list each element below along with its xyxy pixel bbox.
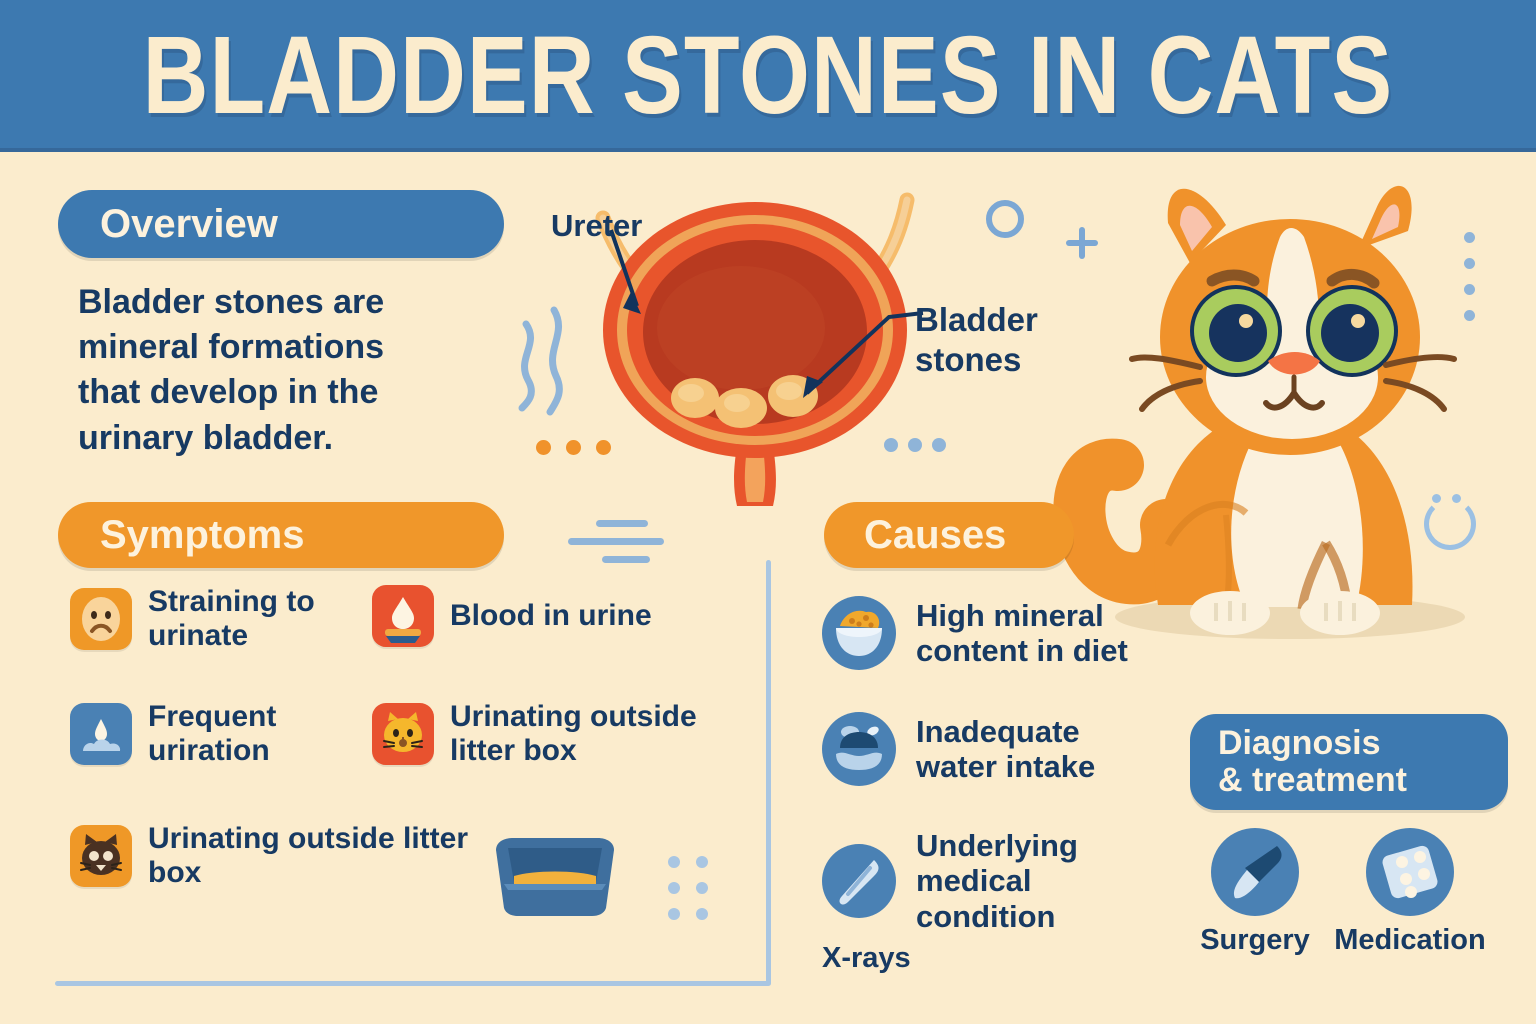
dash-decoration	[602, 556, 650, 563]
symptom-item: Urinating outside litter box	[70, 822, 470, 890]
dot-decoration	[884, 438, 898, 452]
xray-icon	[822, 844, 896, 918]
dot-decoration	[696, 856, 708, 868]
sad-face-icon	[70, 588, 132, 650]
dot-decoration	[596, 440, 611, 455]
dot-decoration	[668, 908, 680, 920]
divider-horizontal	[55, 981, 771, 986]
diagnosis-pill-label-line1: Diagnosis	[1218, 725, 1380, 762]
dark-cat-face-icon	[70, 825, 132, 887]
symptom-item: Urinating outside litter box	[372, 700, 752, 768]
symptom-item: Frequent uriration	[70, 700, 360, 768]
header-banner: BLADDER STONES IN CATS	[0, 0, 1536, 152]
symptom-item: Blood in urine	[372, 585, 732, 647]
section-pill-overview: Overview	[58, 190, 504, 258]
causes-pill-label: Causes	[864, 513, 1006, 558]
dot-decoration	[1432, 494, 1441, 503]
dot-decoration	[908, 438, 922, 452]
symptoms-pill-label: Symptoms	[100, 513, 305, 558]
water-bowl-icon	[822, 712, 896, 786]
symptom-label: Blood in urine	[450, 599, 652, 633]
symptom-label: Urinating outside litter box	[148, 822, 470, 890]
cause-label: Inadequate water intake	[916, 714, 1152, 785]
treatment-label: Surgery	[1198, 924, 1312, 957]
ring-decoration	[986, 200, 1024, 238]
label-ureter: Ureter	[551, 208, 642, 244]
dot-decoration	[696, 882, 708, 894]
water-drop-icon	[70, 703, 132, 765]
pill-blister-icon	[1366, 828, 1454, 916]
squiggle-decoration	[512, 302, 572, 432]
symptom-label: Frequent uriration	[148, 700, 360, 768]
section-pill-diagnosis: Diagnosis & treatment	[1190, 714, 1508, 810]
overview-body-text: Bladder stones are mineral formations th…	[78, 280, 448, 461]
section-pill-symptoms: Symptoms	[58, 502, 504, 568]
arc-decoration	[1424, 498, 1476, 550]
dot-decoration	[668, 882, 680, 894]
infographic-canvas: BLADDER STONES IN CATS Overview Bladder …	[0, 0, 1536, 1024]
dot-decoration	[1464, 258, 1475, 269]
cat-face-icon	[372, 703, 434, 765]
cause-label: High mineral content in diet	[916, 598, 1202, 669]
xray-label: X-rays	[822, 942, 911, 975]
dot-decoration	[932, 438, 946, 452]
treatment-item: Surgery	[1198, 828, 1312, 957]
blood-drop-icon	[372, 585, 434, 647]
symptom-item: Straining to urinate	[70, 585, 360, 653]
symptom-label: Urinating outside litter box	[450, 700, 752, 768]
dot-decoration	[1464, 232, 1475, 243]
dot-decoration	[668, 856, 680, 868]
dash-decoration	[596, 520, 648, 527]
dot-decoration	[1452, 494, 1461, 503]
divider-vertical	[766, 560, 771, 985]
dot-decoration	[566, 440, 581, 455]
dot-decoration	[1464, 284, 1475, 295]
treatment-item: Medication	[1330, 828, 1490, 957]
dot-decoration	[536, 440, 551, 455]
cause-item: Inadequate water intake	[822, 712, 1152, 786]
overview-pill-label: Overview	[100, 202, 278, 247]
page-title: BLADDER STONES IN CATS	[143, 13, 1394, 140]
dot-decoration	[1464, 310, 1475, 321]
litter-box-icon	[490, 832, 620, 920]
plus-decoration	[1079, 227, 1085, 259]
section-pill-causes: Causes	[824, 502, 1074, 568]
symptom-label: Straining to urinate	[148, 585, 360, 653]
cause-label: Underlying medical condition	[916, 828, 1122, 934]
treatment-label: Medication	[1330, 924, 1490, 957]
sad-orange-cat-illustration	[1040, 165, 1510, 640]
scalpel-icon	[1211, 828, 1299, 916]
cause-item: Underlying medical condition	[822, 828, 1122, 934]
diagnosis-pill-label-line2: & treatment	[1218, 762, 1407, 799]
dash-decoration	[568, 538, 664, 545]
dot-decoration	[696, 908, 708, 920]
cause-item: High mineral content in diet	[822, 596, 1202, 670]
food-bowl-icon	[822, 596, 896, 670]
